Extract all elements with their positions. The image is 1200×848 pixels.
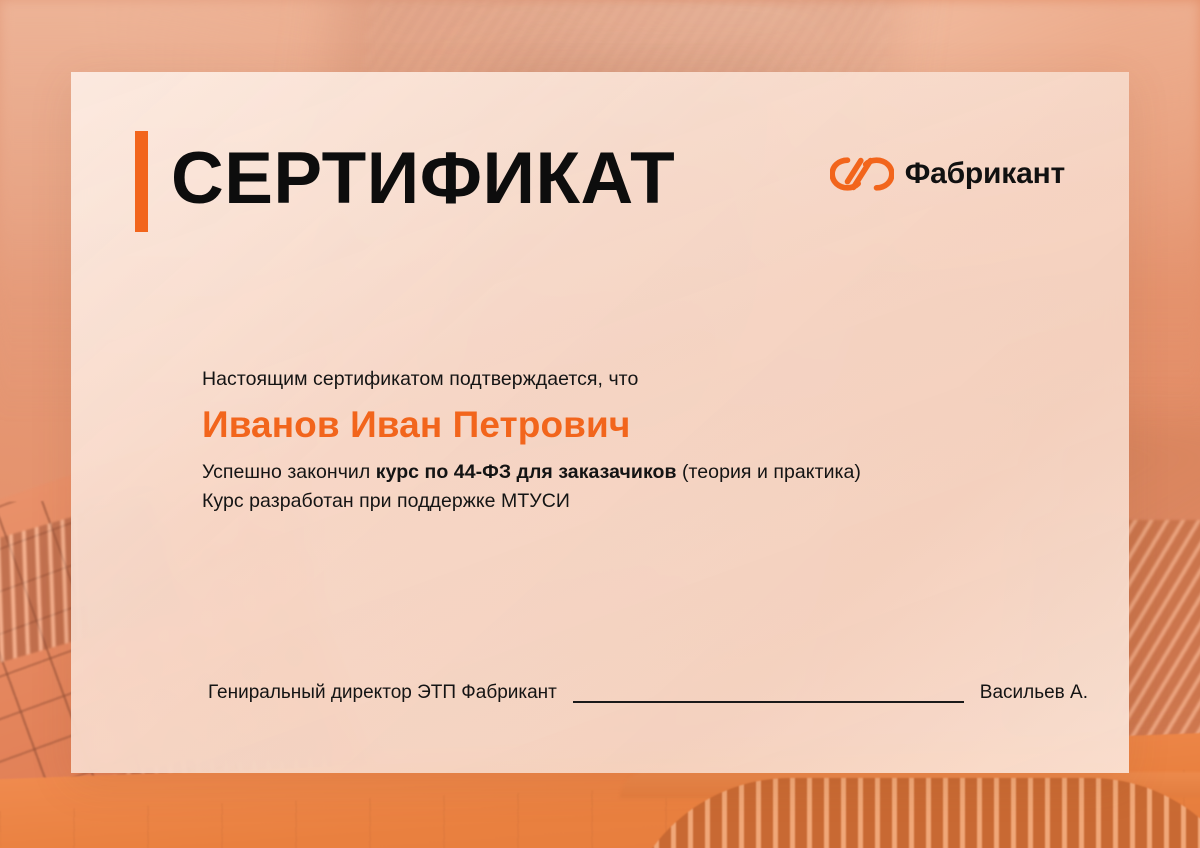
brand-logo: Фабрикант — [830, 157, 1065, 191]
support-line: Курс разработан при поддержке МТУСИ — [202, 487, 1082, 516]
signatory-role: Гениральный директор ЭТП Фабрикант — [208, 680, 557, 706]
certificate-card: СЕРТИФИКАТ Фабрикант Настоящим сертифика… — [71, 72, 1129, 773]
recipient-name: Иванов Иван Петрович — [202, 399, 1082, 451]
certificate-body: Настоящим сертификатом подтверждается, ч… — [202, 365, 1082, 516]
signatory-name: Васильев А. — [980, 680, 1088, 706]
certificate-page: СЕРТИФИКАТ Фабрикант Настоящим сертифика… — [0, 0, 1200, 848]
certificate-header: СЕРТИФИКАТ Фабрикант — [135, 131, 1065, 241]
brand-wordmark: Фабрикант — [905, 157, 1065, 191]
page-title: СЕРТИФИКАТ — [171, 127, 675, 231]
arch-ribbing — [620, 778, 1200, 848]
arch-structure — [620, 778, 1200, 848]
course-suffix: (теория и практика) — [677, 461, 861, 483]
infinity-loop-icon — [830, 157, 894, 191]
accent-bar — [135, 131, 148, 232]
course-name: курс по 44-ФЗ для заказачиков — [376, 461, 677, 483]
intro-text: Настоящим сертификатом подтверждается, ч… — [202, 365, 1082, 393]
course-line: Успешно закончил курс по 44-ФЗ для заказ… — [202, 458, 1082, 487]
signature-line — [573, 701, 964, 703]
course-prefix: Успешно закончил — [202, 461, 376, 483]
signature-row: Гениральный директор ЭТП Фабрикант Васил… — [208, 680, 1088, 706]
